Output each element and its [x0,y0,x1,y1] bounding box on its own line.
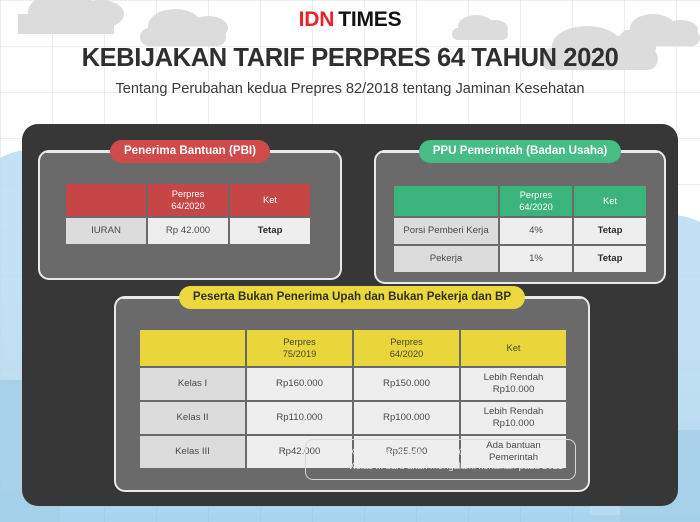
header-line-1: Perpres [148,188,228,200]
header-cell-ket: Ket [461,330,566,366]
card-ppu-chip-wrap: PPU Pemerintah (Badan Usaha) [376,140,664,163]
header-line-1: Perpres [247,336,352,348]
logo-times: TIMES [338,8,401,31]
table-row: Porsi Pemberi Kerja 4% Tetap [394,218,646,244]
cell-row-label: Porsi Pemberi Kerja [394,218,498,244]
table-row: IURAN Rp 42.000 Tetap [66,218,310,244]
header-line-2: 75/2019 [247,348,352,360]
ket-line-2: Rp10.000 [461,384,566,396]
footnote-line-1: Kelas I dan II naik Juli 2020 [349,445,563,459]
card-ppu-title-chip: PPU Pemerintah (Badan Usaha) [419,140,622,163]
cell-ket: Tetap [574,218,646,244]
cell-row-label: Kelas I [140,368,245,400]
content-panel: Penerima Bantuan (PBI) Perpres 64/2020 K… [22,124,678,506]
cell-row-label: Kelas II [140,402,245,434]
page-title: KEBIJAKAN TARIF PERPRES 64 TAHUN 2020 [0,46,700,72]
cell-perpres-75-2019: Rp160.000 [247,368,352,400]
table-header-row: Perpres 64/2020 Ket [394,186,646,216]
page-subtitle: Tentang Perubahan kedua Prepres 82/2018 … [0,82,700,97]
card-bp-chip-wrap: Peserta Bukan Penerima Upah dan Bukan Pe… [116,286,588,309]
card-penerima-bantuan-pbi: Penerima Bantuan (PBI) Perpres 64/2020 K… [38,150,342,280]
cell-row-label: Pekerja [394,246,498,272]
card-pbi-chip-wrap: Penerima Bantuan (PBI) [40,140,340,163]
cell-row-label: IURAN [66,218,146,244]
header-cell-perpres-64-2020: Perpres 64/2020 [500,186,572,216]
card-peserta-bukan-penerima-upah: Peserta Bukan Penerima Upah dan Bukan Pe… [114,296,590,492]
brand-logo: IDNTIMES [0,0,700,30]
table-header-row: Perpres 64/2020 Ket [66,184,310,216]
cell-perpres-75-2019: Rp110.000 [247,402,352,434]
cell-ket: Lebih Rendah Rp10.000 [461,368,566,400]
ket-line-1: Lebih Rendah [461,372,566,384]
ket-line-2: Rp10.000 [461,418,566,430]
cell-ket: Tetap [230,218,310,244]
header-cell-perpres-64-2020: Perpres 64/2020 [354,330,459,366]
footnote-box: Ket : Kelas I dan II naik Juli 2020 Kela… [305,439,576,480]
header-cell-perpres-75-2019: Perpres 75/2019 [247,330,352,366]
card-ppu-pemerintah: PPU Pemerintah (Badan Usaha) Perpres 64/… [374,150,666,284]
cell-row-label: Kelas III [140,436,245,468]
header-line-2: 64/2020 [354,348,459,360]
cell-perpres-64-2020: Rp 42.000 [148,218,228,244]
header: IDNTIMES KEBIJAKAN TARIF PERPRES 64 TAHU… [0,0,700,118]
cell-perpres-64-2020: 1% [500,246,572,272]
table-row: Kelas II Rp110.000 Rp100.000 Lebih Renda… [140,402,566,434]
header-line-1: Perpres [354,336,459,348]
header-cell-blank [394,186,498,216]
cell-ket: Lebih Rendah Rp10.000 [461,402,566,434]
header-cell-ket: Ket [230,184,310,216]
header-line-2: 64/2020 [500,201,572,213]
footnote-lines: Kelas I dan II naik Juli 2020 Kelas III … [349,445,563,473]
table-row: Kelas I Rp160.000 Rp150.000 Lebih Rendah… [140,368,566,400]
ket-line-1: Lebih Rendah [461,406,566,418]
table-pbi: Perpres 64/2020 Ket IURAN Rp 42.000 Teta… [64,182,312,246]
table-ppu: Perpres 64/2020 Ket Porsi Pemberi Kerja … [392,184,648,274]
footnote-label: Ket : [318,453,337,464]
cell-perpres-64-2020: 4% [500,218,572,244]
cell-perpres-64-2020: Rp100.000 [354,402,459,434]
header-cell-perpres-64-2020: Perpres 64/2020 [148,184,228,216]
cell-ket: Tetap [574,246,646,272]
footnote-line-2: Kelas III baru akan mengalami kenaikan p… [349,459,563,473]
table-header-row: Perpres 75/2019 Perpres 64/2020 Ket [140,330,566,366]
header-cell-ket: Ket [574,186,646,216]
card-pbi-title-chip: Penerima Bantuan (PBI) [110,140,270,163]
header-line-1: Perpres [500,189,572,201]
card-bp-title-chip: Peserta Bukan Penerima Upah dan Bukan Pe… [179,286,525,309]
table-row: Pekerja 1% Tetap [394,246,646,272]
logo-idn: IDN [299,8,335,31]
cell-perpres-64-2020: Rp150.000 [354,368,459,400]
header-cell-blank [66,184,146,216]
header-line-2: 64/2020 [148,200,228,212]
header-cell-blank [140,330,245,366]
